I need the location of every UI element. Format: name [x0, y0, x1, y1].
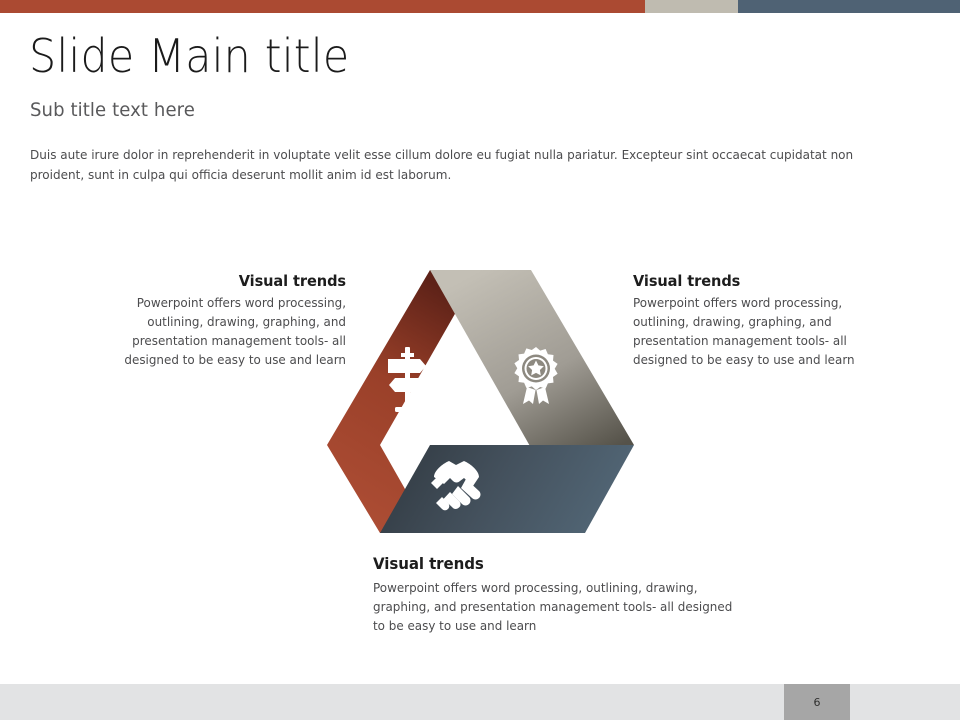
top-accent-segment-beige — [645, 0, 738, 13]
top-accent-segment-red — [0, 0, 645, 13]
triangle-loop-diagram — [300, 255, 665, 555]
callout-right[interactable]: Visual trends Powerpoint offers word pro… — [633, 272, 895, 370]
slide-footer: 6 — [0, 684, 960, 720]
page-number: 6 — [814, 696, 821, 709]
callout-left-body: Powerpoint offers word processing, outli… — [96, 294, 346, 370]
callout-left-heading: Visual trends — [103, 272, 346, 290]
top-accent-segment-blue — [738, 0, 960, 13]
slide-title: Slide Main title — [29, 32, 349, 80]
callout-bottom-body: Powerpoint offers word processing, outli… — [373, 579, 734, 636]
slide-subtitle: Sub title text here — [30, 99, 195, 121]
lead-paragraph: Duis aute irure dolor in reprehenderit i… — [30, 145, 884, 185]
callout-right-heading: Visual trends — [633, 272, 879, 290]
callout-bottom-heading: Visual trends — [373, 554, 723, 573]
callout-left[interactable]: Visual trends Powerpoint offers word pro… — [88, 272, 346, 370]
callout-bottom[interactable]: Visual trends Powerpoint offers word pro… — [373, 554, 745, 636]
diagram-segment-bottom-shape — [380, 445, 634, 533]
callout-right-body: Powerpoint offers word processing, outli… — [633, 294, 887, 370]
top-accent-bar — [0, 0, 960, 13]
page-number-box: 6 — [784, 684, 850, 720]
diagram-segment-bottom[interactable] — [380, 445, 634, 533]
